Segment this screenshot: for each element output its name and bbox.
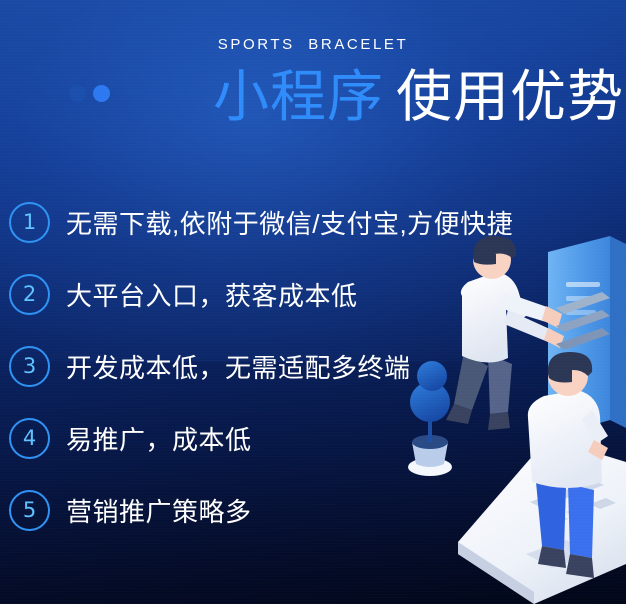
list-item-number: 2 xyxy=(9,274,50,315)
list-item-number: 5 xyxy=(9,490,50,531)
list-item-label: 开发成本低，无需适配多终端 xyxy=(66,348,411,385)
list-item-label: 大平台入口，获客成本低 xyxy=(66,276,358,313)
decorative-dots xyxy=(69,85,110,102)
list-item: 5 营销推广策略多 xyxy=(0,474,540,546)
list-item-label: 营销推广策略多 xyxy=(66,492,252,529)
list-item: 4 易推广，成本低 xyxy=(0,402,540,474)
list-item-label: 易推广，成本低 xyxy=(66,420,252,457)
advantage-list: 1 无需下载,依附于微信/支付宝,方便快捷 2 大平台入口，获客成本低 3 开发… xyxy=(0,186,540,546)
list-item-label: 无需下载,依附于微信/支付宝,方便快捷 xyxy=(66,204,513,241)
poster-root: SPORTS BRACELET 小程序使用优势 1 无需下载,依附于微信/支付宝… xyxy=(0,0,626,604)
list-item-number: 1 xyxy=(9,202,50,243)
list-item: 1 无需下载,依附于微信/支付宝,方便快捷 xyxy=(0,186,540,258)
page-title-plain: 使用优势 xyxy=(396,65,624,128)
dot-muted-icon xyxy=(69,85,86,102)
list-item-number: 4 xyxy=(9,418,50,459)
list-item-number: 3 xyxy=(9,346,50,387)
list-item: 2 大平台入口，获客成本低 xyxy=(0,258,540,330)
list-item: 3 开发成本低，无需适配多终端 xyxy=(0,330,540,402)
eyebrow-text: SPORTS BRACELET xyxy=(0,36,626,53)
page-title-accent: 小程序 xyxy=(213,65,384,128)
dot-bright-icon xyxy=(93,85,110,102)
